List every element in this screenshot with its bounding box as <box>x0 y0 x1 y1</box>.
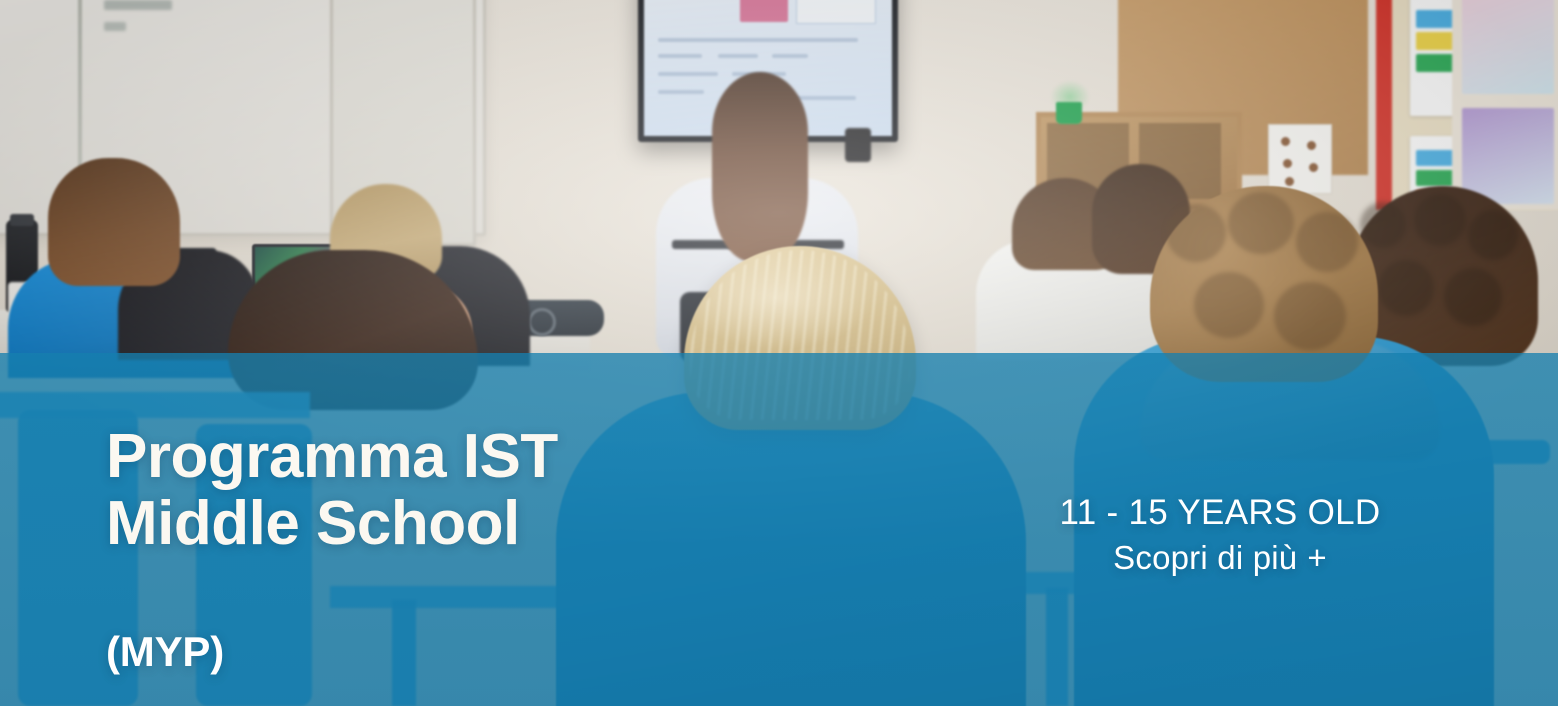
hero-banner: Programma IST Middle School (MYP) 11 - 1… <box>0 0 1558 706</box>
discover-more-label: Scopri di più <box>1113 539 1297 576</box>
discover-more-link[interactable]: Scopri di più+ <box>1113 539 1327 577</box>
programme-subtitle: (MYP) <box>106 628 224 676</box>
age-range-label: 11 - 15 YEARS OLD <box>1020 492 1420 533</box>
plus-icon: + <box>1307 539 1326 576</box>
page-title: Programma IST Middle School <box>106 424 558 558</box>
age-and-cta-block: 11 - 15 YEARS OLD Scopri di più+ <box>1020 492 1420 577</box>
